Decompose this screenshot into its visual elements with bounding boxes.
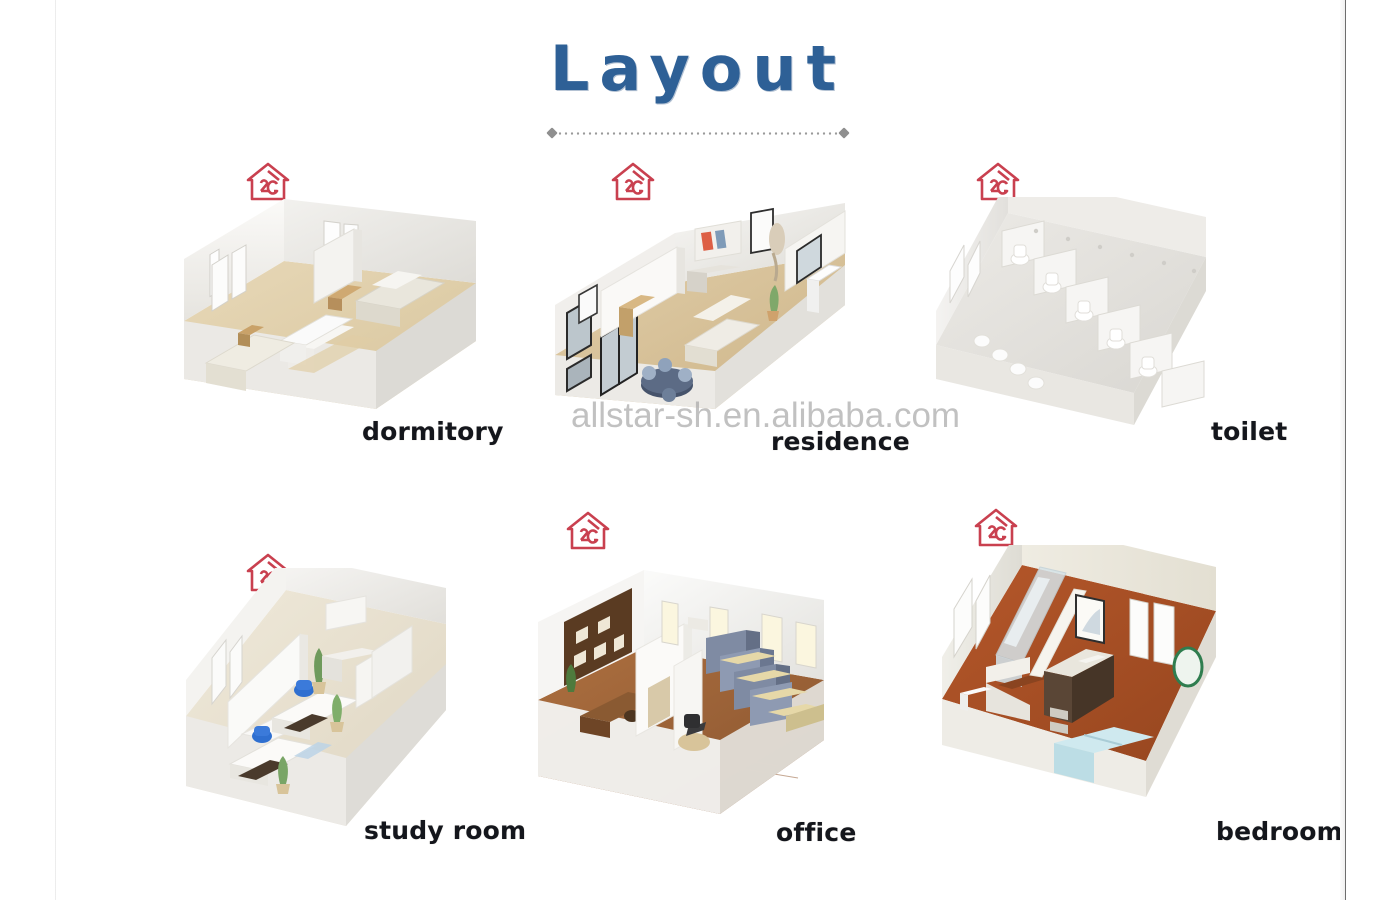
room-label-toilet: toilet [1211, 417, 1287, 446]
house-2g-logo-icon [972, 505, 1020, 549]
iso-room-bedroom-art [926, 545, 1266, 845]
iso-room-toilet-art [916, 197, 1256, 477]
page-title: Layout [550, 38, 846, 100]
iso-room-study-art [176, 568, 506, 858]
room-card-toilet[interactable]: toilet [906, 155, 1276, 495]
room-label-study-room: study room [364, 816, 526, 845]
divider-diamond-right-icon [838, 127, 849, 138]
page-right-border [1345, 0, 1346, 900]
room-label-residence: residence [771, 427, 910, 456]
page-canvas: Layout [56, 0, 1340, 900]
house-2g-logo-icon [564, 508, 612, 552]
page-title-block: Layout [56, 38, 1340, 100]
page-frame: Layout [0, 0, 1400, 900]
room-label-dormitory: dormitory [362, 417, 504, 446]
divider-diamond-left-icon [546, 127, 557, 138]
room-card-bedroom[interactable]: bedroom [916, 505, 1296, 875]
room-card-residence[interactable]: residence [541, 155, 901, 495]
room-card-dormitory[interactable]: dormitory [176, 155, 526, 495]
iso-room-office-art [524, 564, 864, 854]
divider-dots-icon [557, 132, 839, 135]
page-left-border [55, 0, 56, 900]
room-label-bedroom: bedroom [1216, 817, 1343, 846]
room-card-study-room[interactable]: study room [176, 548, 536, 878]
room-label-office: office [776, 818, 856, 847]
title-divider [548, 127, 848, 140]
room-card-office[interactable]: office [516, 508, 896, 878]
